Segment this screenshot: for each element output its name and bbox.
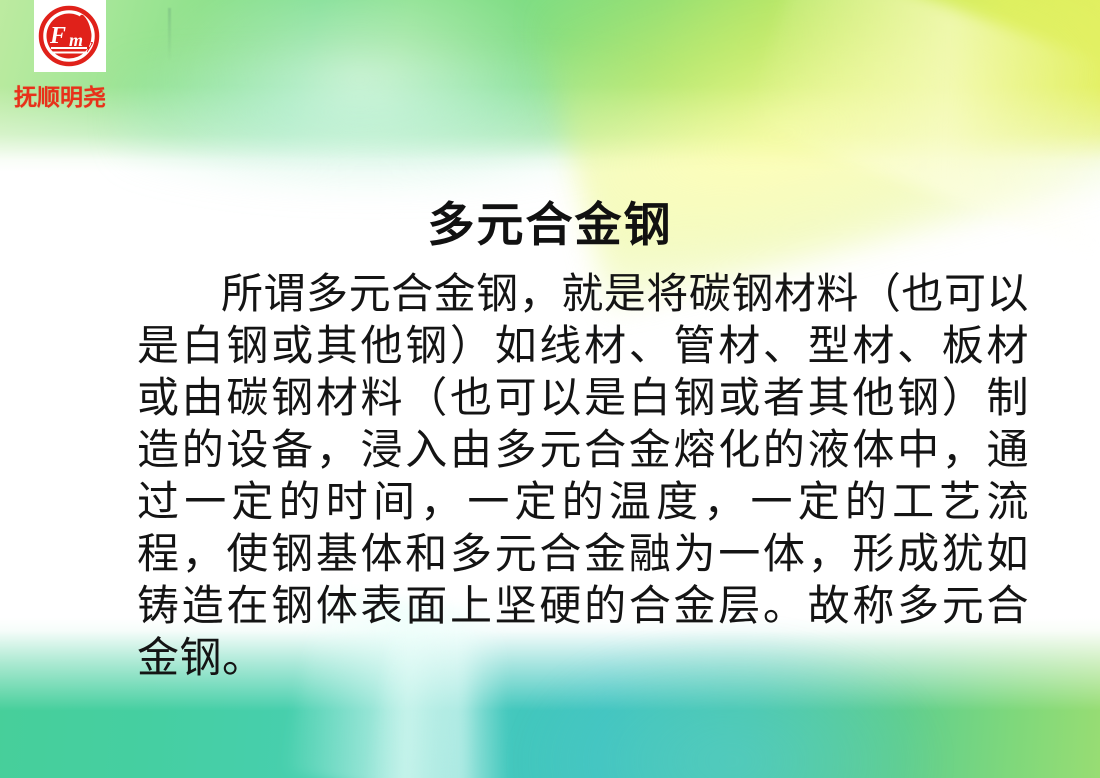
svg-text:F: F [49,23,66,49]
svg-text:y: y [83,35,93,54]
slide-body-text: 所谓多元合金钢，就是将碳钢材料（也可以是白钢或其他钢）如线材、管材、型材、板材或… [137,268,1029,684]
top-banner-gradient [0,0,1100,172]
presentation-slide: F m y 抚顺明尧 多元合金钢 所谓多元合金钢，就是将碳钢材料（也可以是白钢或… [0,0,1100,778]
fmy-logo-icon: F m y [38,5,100,67]
company-name-label: 抚顺明尧 [14,78,106,112]
banner-light-wash [150,0,570,200]
company-logo: F m y [34,0,106,72]
banner-vertical-artifact [168,8,171,60]
slide-title: 多元合金钢 [0,199,1100,251]
